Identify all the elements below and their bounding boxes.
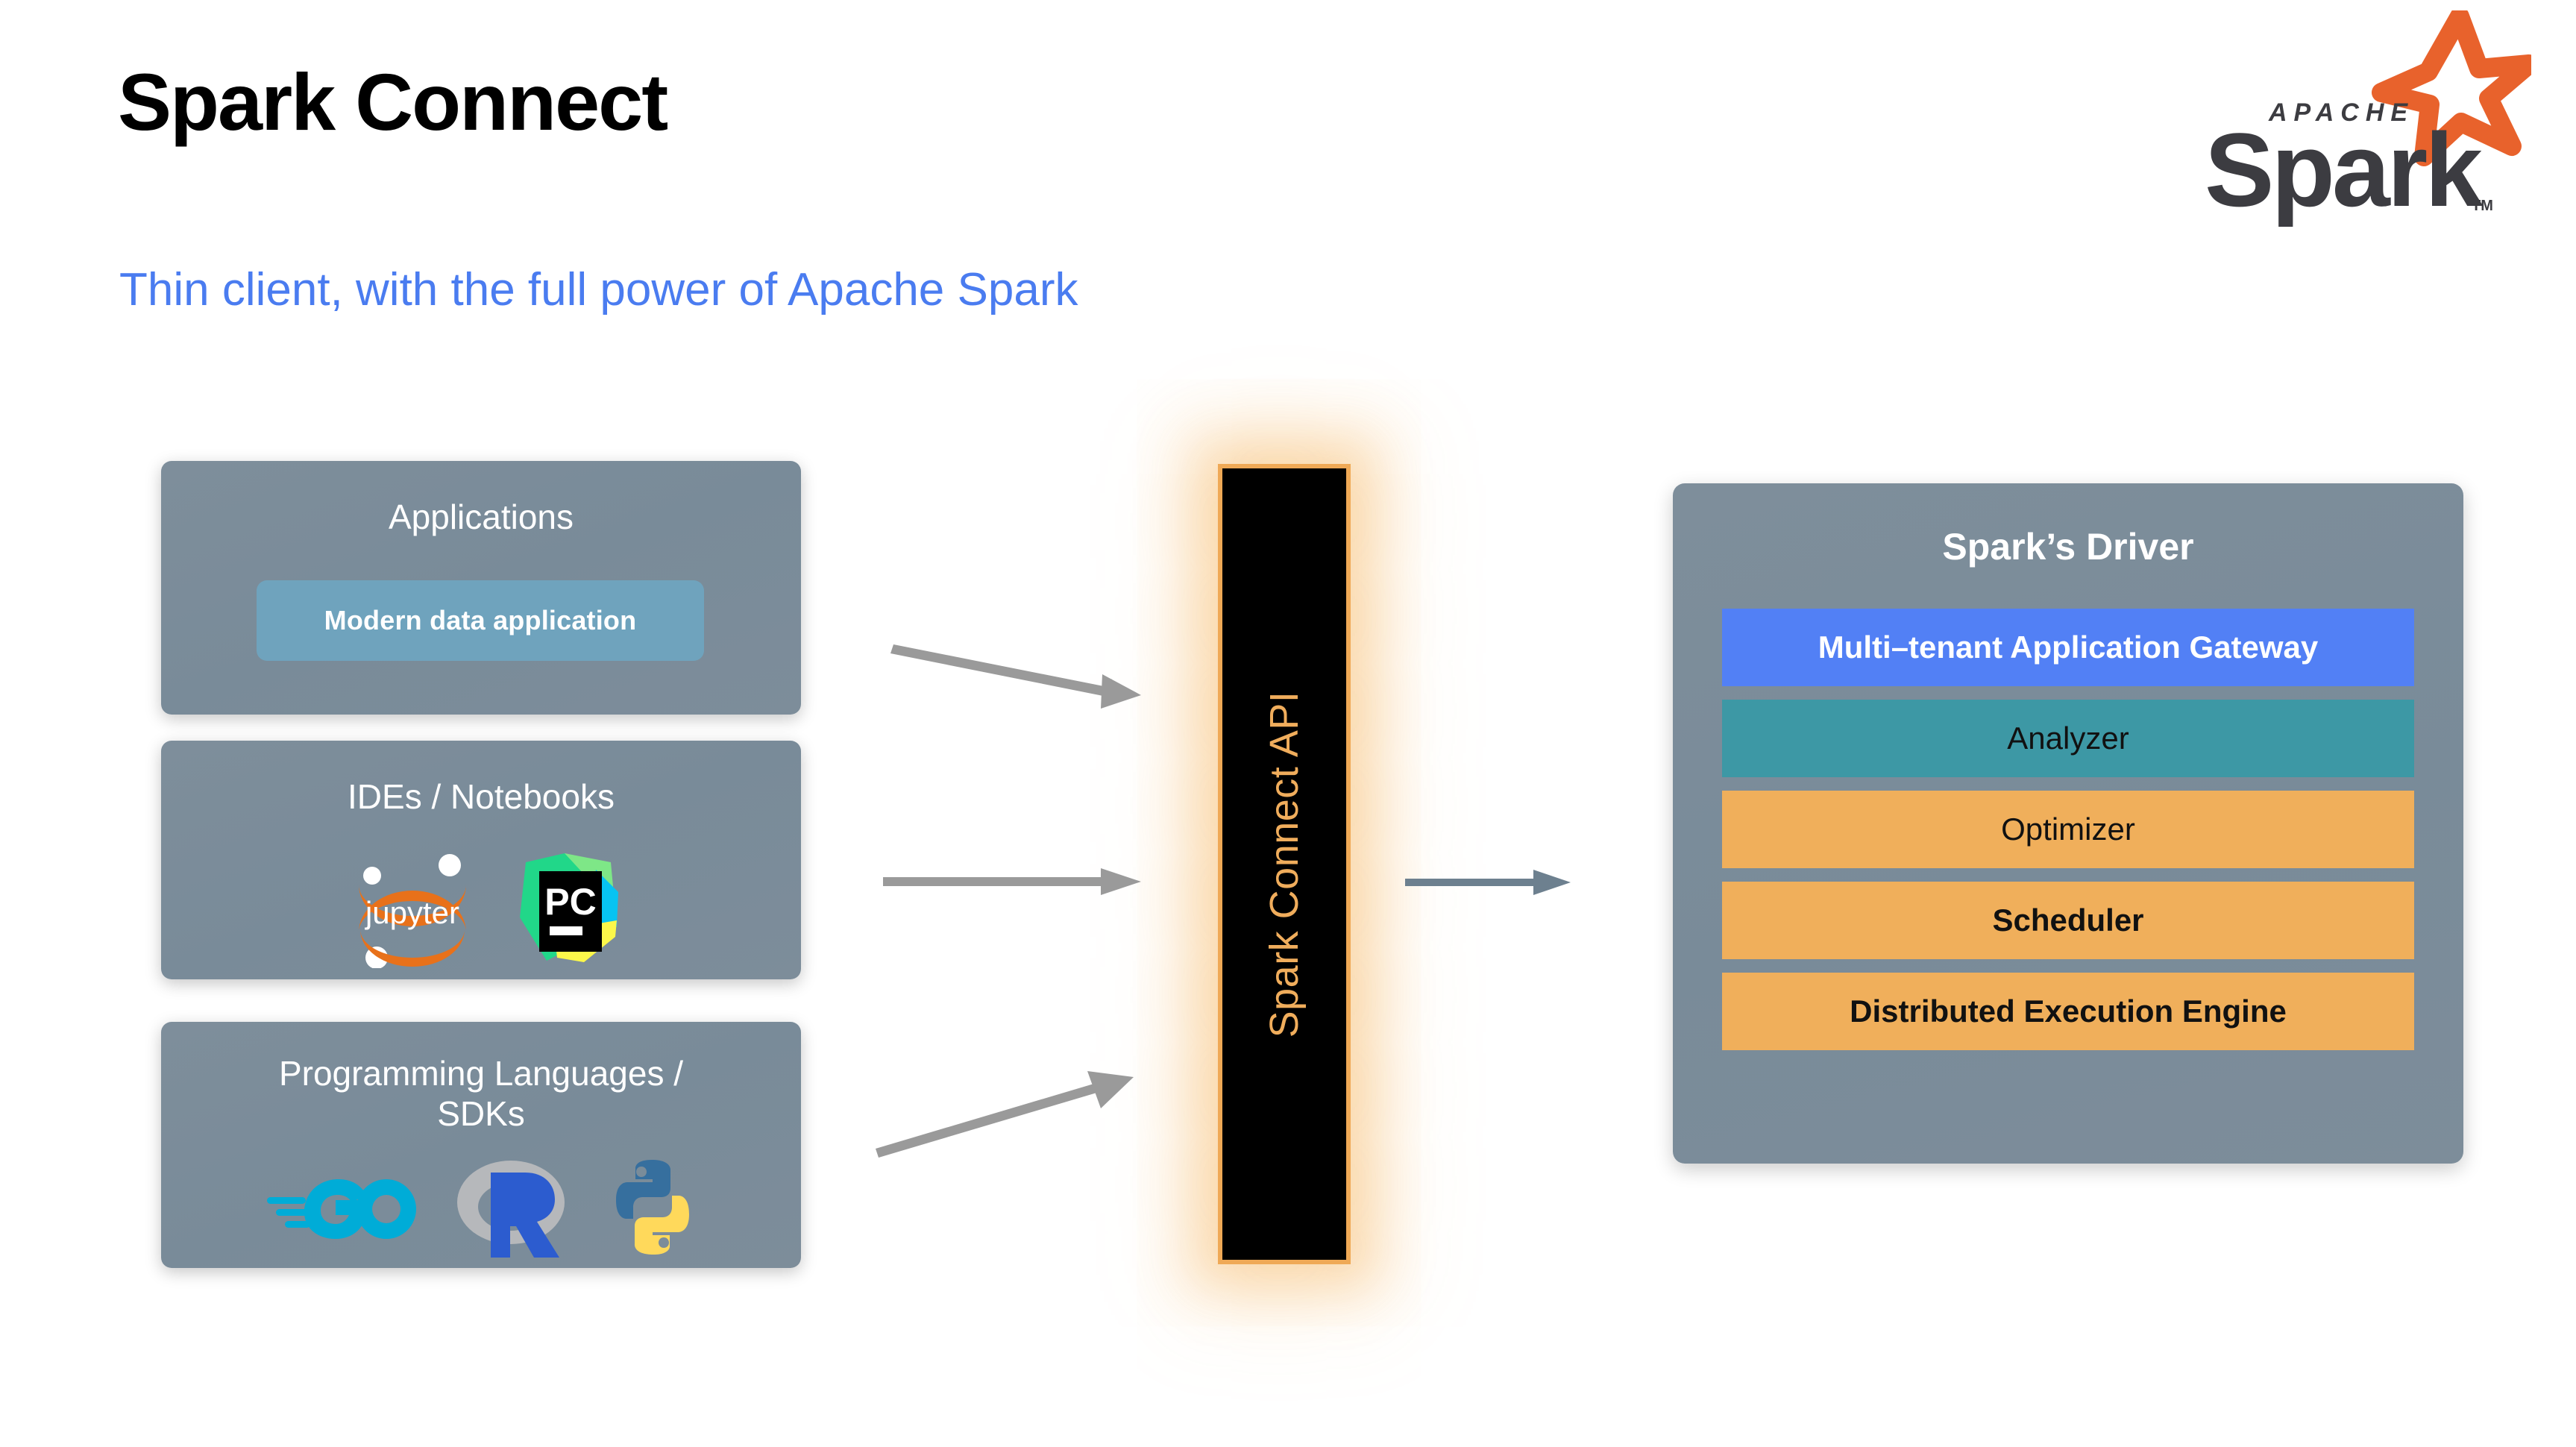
jupyter-logo: jupyter bbox=[338, 849, 487, 968]
apache-spark-logo: APACHE Spark TM bbox=[2158, 10, 2531, 227]
arrow-applications-to-api bbox=[888, 612, 1201, 731]
driver-layer-optimizer[interactable]: Optimizer bbox=[1722, 791, 2414, 868]
modern-data-application-item[interactable]: Modern data application bbox=[257, 580, 704, 661]
spark-wordmark: Spark bbox=[2205, 111, 2483, 227]
driver-layer-analyzer[interactable]: Analyzer bbox=[1722, 700, 2414, 777]
arrow-ides-to-api bbox=[880, 858, 1201, 917]
card-title-ides-notebooks: IDEs / Notebooks bbox=[161, 776, 801, 817]
trademark-symbol: TM bbox=[2472, 198, 2493, 214]
spark-driver-title: Spark’s Driver bbox=[1673, 525, 2463, 568]
svg-text:Spark: Spark bbox=[2205, 111, 2483, 227]
client-card-ides-notebooks[interactable]: IDEs / Notebooks jupyter PC bbox=[161, 741, 801, 979]
go-logo bbox=[261, 1166, 418, 1248]
driver-layer-scheduler[interactable]: Scheduler bbox=[1722, 882, 2414, 959]
card-title-line-2: SDKs bbox=[437, 1094, 525, 1133]
card-title-applications: Applications bbox=[161, 497, 801, 537]
card-title-programming-languages: Programming Languages / SDKs bbox=[161, 1053, 801, 1134]
ide-logo-row: jupyter PC bbox=[161, 845, 801, 972]
spark-driver-panel[interactable]: Spark’s Driver Multi–tenant Application … bbox=[1673, 483, 2463, 1164]
jupyter-wordmark: jupyter bbox=[364, 895, 459, 930]
arrow-api-to-driver bbox=[1402, 858, 1656, 917]
spark-driver-layer-list: Multi–tenant Application Gateway Analyze… bbox=[1722, 609, 2414, 1050]
driver-layer-multi-tenant-application-gateway[interactable]: Multi–tenant Application Gateway bbox=[1722, 609, 2414, 686]
card-title-line-1: Programming Languages / bbox=[279, 1054, 683, 1093]
client-card-applications[interactable]: Applications Modern data application bbox=[161, 461, 801, 715]
driver-layer-distributed-execution-engine[interactable]: Distributed Execution Engine bbox=[1722, 973, 2414, 1050]
page-subtitle: Thin client, with the full power of Apac… bbox=[119, 265, 1078, 316]
r-logo bbox=[447, 1153, 574, 1261]
pycharm-pc-text: PC bbox=[544, 881, 596, 923]
client-card-programming-languages[interactable]: Programming Languages / SDKs bbox=[161, 1022, 801, 1268]
spark-connect-api-label: Spark Connect API bbox=[1261, 691, 1307, 1038]
page-title: Spark Connect bbox=[118, 58, 667, 147]
spark-connect-api-bar[interactable]: Spark Connect API bbox=[1218, 464, 1351, 1264]
language-logo-row bbox=[161, 1147, 801, 1266]
arrow-languages-to-api bbox=[873, 1044, 1201, 1178]
python-logo bbox=[604, 1157, 701, 1258]
pycharm-logo: PC bbox=[512, 849, 624, 968]
